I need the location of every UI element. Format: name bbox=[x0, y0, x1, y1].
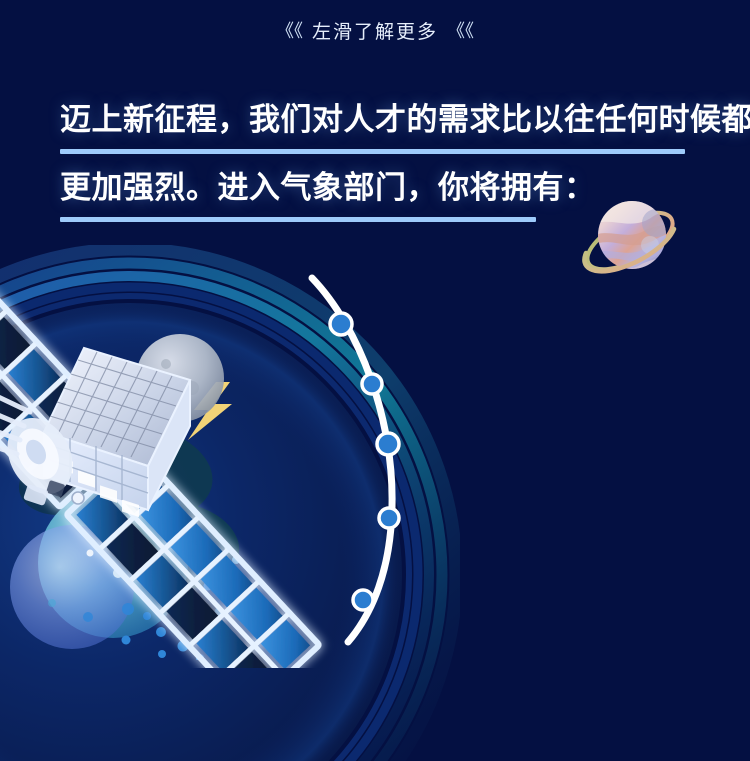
headline-line-1: 迈上新征程，我们对人才的需求比以往任何时候都 bbox=[60, 100, 700, 140]
promo-poster: 《《左滑了解更多《《 迈上新征程，我们对人才的需求比以往任何时候都 更加强烈。进… bbox=[0, 0, 750, 761]
headline-rule-2 bbox=[60, 217, 536, 222]
swipe-hint: 《《左滑了解更多《《 bbox=[0, 17, 750, 44]
headline-rule-1 bbox=[60, 149, 685, 154]
chevron-left-icons-trailing: 《《 bbox=[447, 17, 474, 43]
weather-satellite bbox=[0, 238, 440, 668]
headline-line-2: 更加强烈。进入气象部门，你将拥有： bbox=[60, 168, 700, 208]
chevron-left-icons: 《《 bbox=[276, 17, 303, 43]
headline-block: 迈上新征程，我们对人才的需求比以往任何时候都 更加强烈。进入气象部门，你将拥有： bbox=[60, 100, 700, 236]
swipe-hint-label: 左滑了解更多 bbox=[312, 17, 438, 44]
